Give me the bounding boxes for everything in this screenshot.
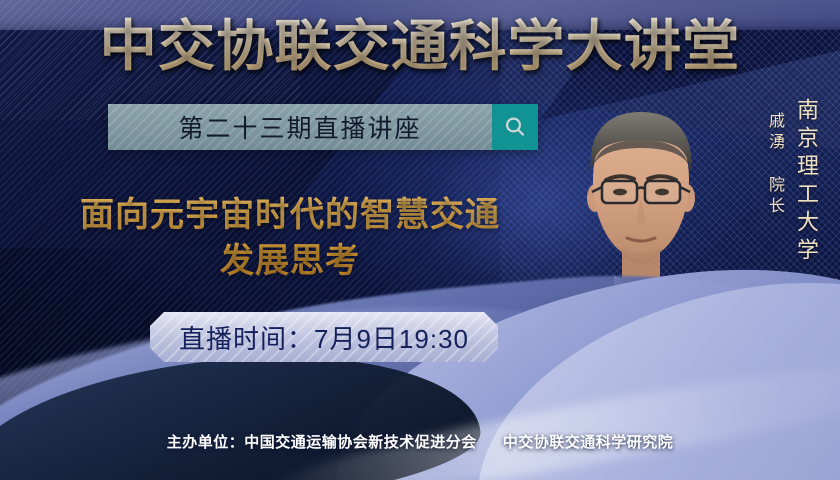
organizer-footer: 主办单位：中国交通运输协会新技术促进分会中交协联交通科学研究院 <box>0 431 840 452</box>
lecture-headline: 面向元宇宙时代的智慧交通 发展思考 <box>30 192 550 284</box>
search-icon[interactable] <box>492 104 538 150</box>
speaker-name-role: 戚湧 院长 <box>762 112 786 218</box>
lecture-headline-line-1: 面向元宇宙时代的智慧交通 <box>30 192 550 238</box>
episode-bar-body: 第二十三期直播讲座 <box>108 104 492 150</box>
episode-bar: 第二十三期直播讲座 <box>108 104 538 150</box>
lecture-headline-line-2: 发展思考 <box>30 238 550 284</box>
broadcast-time-banner: 直播时间：7月9日19:30 <box>150 312 498 362</box>
organizer-prefix: 主办单位： <box>167 434 245 451</box>
page-title: 中交协联交通科学大讲堂 <box>0 16 840 76</box>
episode-label: 第二十三期直播讲座 <box>178 109 421 145</box>
organizer-name-1: 中国交通运输协会新技术促进分会 <box>244 434 477 451</box>
live-stream-poster: 中交协联交通科学大讲堂 中交协联交通科学大讲堂 第二十三期直播讲座 面向元宇宙时… <box>0 0 840 480</box>
organizer-name-2: 中交协联交通科学研究院 <box>503 434 674 451</box>
broadcast-time-label: 直播时间：7月9日19:30 <box>179 319 469 356</box>
speaker-organization: 南京理工大学 <box>790 98 822 266</box>
